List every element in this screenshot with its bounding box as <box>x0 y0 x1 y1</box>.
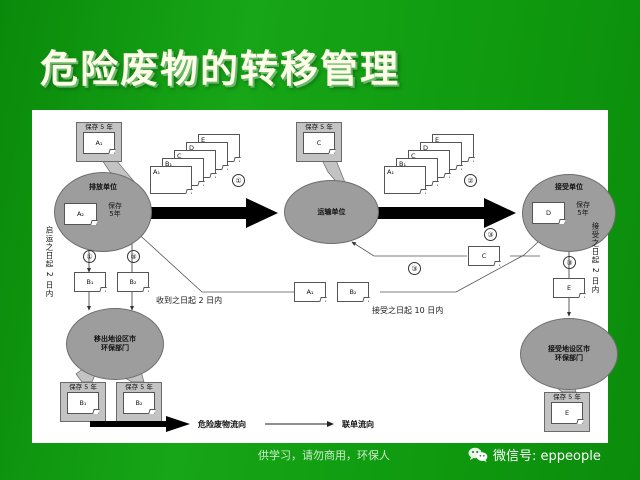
legend-manifest-flow-label: 联单流向 <box>342 419 374 430</box>
time-label-right-vertical: 接受之日起 2 日内 <box>590 222 601 294</box>
step-marker-3b: ③ <box>484 228 497 241</box>
step-marker-3d: ③ <box>563 256 576 269</box>
node-transport-unit-label: 运输单位 <box>318 208 346 217</box>
time-label-received-2days: 收到之日起 2 日内 <box>156 296 222 305</box>
page-title: 危险废物的转移管理 <box>40 38 400 93</box>
callout-keep-e-bottom: 保存 5 年 E <box>544 392 590 432</box>
step-marker-1b: ① <box>83 250 96 263</box>
node-discharge-unit-label: 排放单位 <box>89 183 117 192</box>
document-b1-bottom: B₁ <box>67 392 99 414</box>
discharge-keep-text: 保存5年 <box>108 202 122 219</box>
stack1-doc-a1: A₁ <box>150 166 192 194</box>
document-c: C <box>303 132 335 154</box>
diagram-panel: 保存 5 年 A₁ 保存 5 年 C 保存 5 年 B₁ 保存 5 年 B₂ 保… <box>32 110 608 443</box>
doc-c-mid: C <box>468 246 500 266</box>
node-origin-epb-label: 移出地设区市环保部门 <box>94 335 136 353</box>
stack2-doc-a1: A₁ <box>384 166 426 194</box>
callout-keep-a1: 保存 5 年 A₁ <box>76 122 122 162</box>
node-dest-epb[interactable]: 接受地设区市环保部门 <box>520 318 618 390</box>
time-label-left-vertical: 启运之日起 2 日内 <box>44 226 55 298</box>
doc-e-right: E <box>553 278 585 298</box>
doc-b2-left: B₂ <box>117 272 149 292</box>
time-label-accepted-10days: 接受之日起 10 日内 <box>372 306 443 315</box>
step-marker-1a: ① <box>232 174 245 187</box>
doc-a1-mid: A₁ <box>294 282 326 302</box>
node-transport-unit[interactable]: 运输单位 <box>284 180 379 244</box>
step-marker-3a: ③ <box>127 250 140 263</box>
document-b2-bottom: B₂ <box>123 392 155 414</box>
step-marker-3c: ③ <box>408 262 421 275</box>
document-stack-2: E D C B₁ A₁ <box>384 134 474 196</box>
node-dest-epb-label: 接受地设区市环保部门 <box>548 345 590 363</box>
discharge-inner-doc: A₂ <box>64 203 97 225</box>
callout-keep-c: 保存 5 年 C <box>296 122 342 162</box>
document-a1: A₁ <box>83 132 115 154</box>
doc-b1-left: B₁ <box>74 272 106 292</box>
step-marker-2: ② <box>464 174 477 187</box>
doc-b2-mid: B₂ <box>337 282 369 302</box>
receive-keep-text: 保存5年 <box>576 201 590 218</box>
wechat-icon <box>468 447 488 463</box>
legend-waste-flow-label: 危险废物流向 <box>198 419 246 430</box>
wechat-label: 微信号: eppeople <box>493 445 601 464</box>
node-origin-epb[interactable]: 移出地设区市环保部门 <box>66 308 164 380</box>
footer-note: 供学习，请勿商用，环保人 <box>258 447 390 463</box>
wechat-handle: 微信号: eppeople <box>468 445 601 464</box>
document-stack-1: E D C B₁ A₁ <box>150 134 240 196</box>
node-receive-unit-label: 接受单位 <box>555 183 583 192</box>
receive-inner-doc: D <box>532 202 565 224</box>
document-e-bottom: E <box>551 402 583 424</box>
